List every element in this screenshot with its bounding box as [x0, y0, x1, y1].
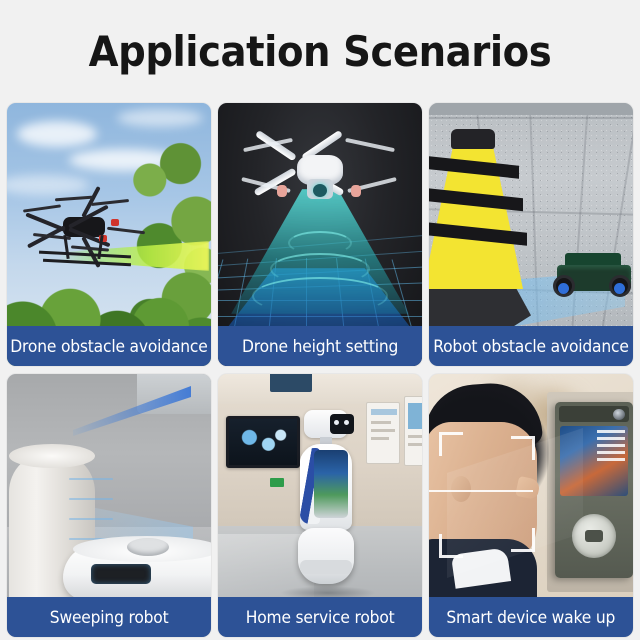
card-label-text: Drone height setting	[242, 337, 398, 356]
robot-car	[553, 249, 633, 305]
robot-touchscreen	[314, 450, 348, 518]
service-robot	[292, 410, 360, 594]
wall-television	[226, 416, 300, 468]
hexacopter-drone	[25, 195, 150, 265]
scenario-card-smart-device-wake-up[interactable]: Smart device wake up	[429, 374, 633, 637]
exit-sign-icon	[270, 478, 284, 487]
robot-eye	[344, 420, 349, 425]
ceiling-monitor	[270, 374, 312, 392]
scenario-card-sweeping-robot[interactable]: Sweeping robot	[7, 374, 211, 637]
page-title: Application Scenarios	[26, 27, 615, 77]
cylinder-top	[9, 444, 95, 468]
scan-line	[69, 478, 113, 480]
drone-arm	[25, 212, 65, 231]
drone-skid	[39, 251, 131, 258]
card-label-text: Smart device wake up	[447, 608, 616, 627]
scenario-row-1: Drone obstacle avoidance	[7, 103, 640, 366]
card-label: Robot obstacle avoidance	[429, 326, 633, 366]
scenario-card-drone-height-setting[interactable]: Drone height setting	[218, 103, 422, 366]
drone-foot	[277, 185, 287, 197]
scan-line	[69, 518, 113, 520]
wall-poster	[404, 396, 422, 466]
face-bracket-icon	[511, 436, 535, 460]
camera-lens-icon	[613, 409, 625, 420]
scenario-card-robot-obstacle-avoidance[interactable]: Robot obstacle avoidance	[429, 103, 633, 366]
scenario-card-drone-obstacle-avoidance[interactable]: Drone obstacle avoidance	[7, 103, 211, 366]
wall-poster	[366, 402, 400, 464]
scan-line	[429, 490, 533, 492]
camera-lens-icon	[313, 184, 327, 197]
traffic-cone	[429, 131, 537, 329]
application-scenarios-page: Application Scenarios	[0, 0, 640, 640]
card-label-text: Robot obstacle avoidance	[433, 337, 628, 356]
far-edge	[429, 103, 633, 115]
robot-eye	[334, 420, 339, 425]
card-label-text: Drone obstacle avoidance	[10, 337, 207, 356]
wave-arc	[288, 231, 352, 255]
grid-line	[218, 259, 223, 332]
face-bracket-icon	[439, 534, 463, 558]
wheel-hub	[614, 283, 625, 294]
card-label: Smart device wake up	[429, 597, 633, 637]
ceiling	[218, 374, 422, 404]
robot-head	[304, 410, 348, 438]
wheel-hub	[558, 283, 569, 294]
drone-skid	[43, 259, 131, 266]
card-label: Drone height setting	[218, 326, 422, 366]
screen-caption	[597, 430, 625, 464]
cone-top	[451, 129, 495, 149]
scenario-row-2: Sweeping robot	[7, 374, 640, 637]
quadcopter-drone	[245, 137, 395, 209]
cone-base	[429, 289, 531, 329]
lidar-turret	[127, 538, 169, 556]
card-label: Home service robot	[218, 597, 422, 637]
robot-base	[298, 528, 354, 584]
drone-rotor	[55, 196, 93, 202]
scenario-grid: Drone obstacle avoidance	[7, 103, 640, 640]
card-label: Sweeping robot	[7, 597, 211, 637]
drone-rotor	[23, 204, 61, 212]
drone-foot	[351, 185, 361, 197]
robot-face-screen	[330, 414, 354, 434]
scenario-card-home-service-robot[interactable]: Home service robot	[218, 374, 422, 637]
card-label: Drone obstacle avoidance	[7, 326, 211, 366]
dial-center	[585, 530, 603, 542]
face-bracket-icon	[511, 528, 535, 552]
drone-rotor	[107, 227, 145, 235]
robot-base-ring	[300, 560, 352, 574]
drone-propeller	[345, 138, 395, 152]
cloud-icon	[117, 109, 203, 127]
card-label-text: Sweeping robot	[50, 608, 169, 627]
cloud-icon	[17, 121, 97, 147]
obstacle-sensor	[91, 564, 151, 584]
scan-line	[69, 498, 113, 500]
tv-screen	[229, 419, 297, 465]
wave-arc	[252, 277, 388, 315]
drone-indicator	[111, 219, 119, 226]
face-bracket-icon	[439, 432, 463, 456]
drone-rotor	[91, 199, 129, 206]
card-label-text: Home service robot	[246, 608, 395, 627]
